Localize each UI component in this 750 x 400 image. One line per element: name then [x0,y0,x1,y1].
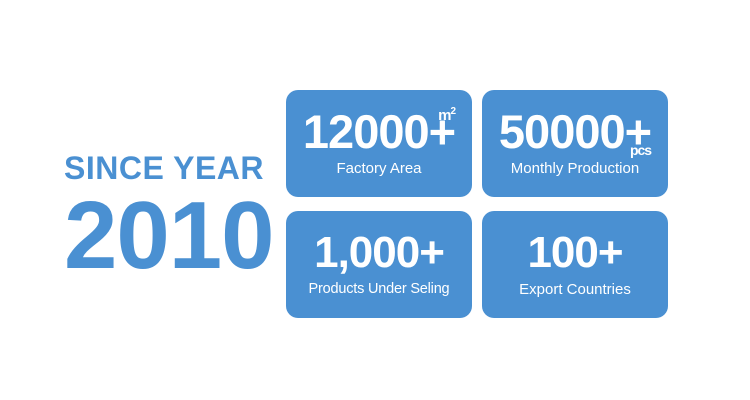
stat-label-monthly-production: Monthly Production [511,159,639,178]
stat-number: 50000 [499,105,625,158]
year-value: 2010 [64,188,279,284]
stat-unit-pcs: pcs [630,143,651,157]
unit-exponent: 2 [451,106,456,117]
stat-value-factory-area: 12000+ m2 [303,106,455,158]
stat-number: 12000 [303,105,429,158]
stat-card-factory-area[interactable]: 12000+ m2 Factory Area [286,90,472,197]
stat-value-export-countries: 100+ [527,227,622,279]
stat-label-export-countries: Export Countries [519,280,631,299]
stats-infographic: SINCE YEAR 2010 12000+ m2 Factory Area 5… [0,0,750,400]
stat-card-monthly-production[interactable]: 50000+ pcs Monthly Production [482,90,668,197]
stat-card-grid: 12000+ m2 Factory Area 50000+ pcs Monthl… [286,90,668,318]
stat-number: 1,000 [314,228,419,277]
stat-label-products-under-selling: Products Under Seling [309,280,450,299]
stat-number: 100 [527,228,597,277]
headline-block: SINCE YEAR 2010 [64,150,279,284]
stat-plus: + [598,228,623,277]
since-year-label: SINCE YEAR [64,150,279,186]
stat-card-export-countries[interactable]: 100+ Export Countries [482,211,668,318]
stat-value-products-under-selling: 1,000+ [314,227,444,279]
stat-value-monthly-production: 50000+ pcs [499,106,651,158]
unit-text: m [438,107,450,124]
stat-label-factory-area: Factory Area [336,159,421,178]
stat-unit-square-meter: m2 [438,107,455,123]
stat-card-products-under-selling[interactable]: 1,000+ Products Under Seling [286,211,472,318]
stat-plus: + [419,228,444,277]
